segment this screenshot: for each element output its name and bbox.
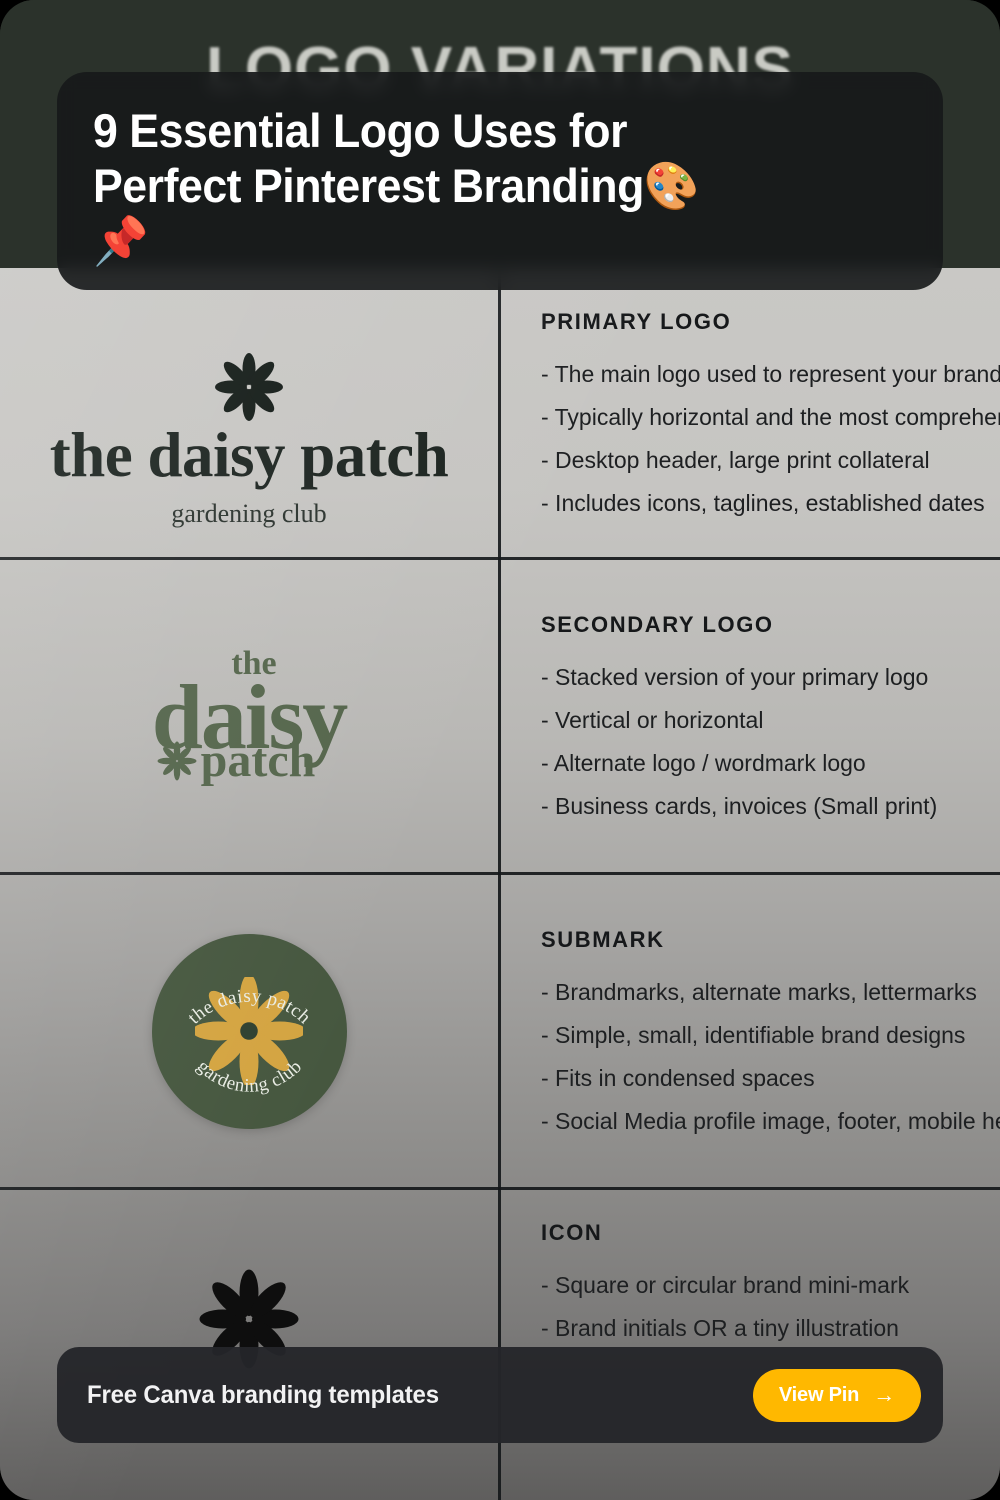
- bullet-item: - Fits in condensed spaces: [541, 1065, 1000, 1092]
- headline-line-1: 9 Essential Logo Uses for: [93, 104, 627, 157]
- cta-description: Free Canva branding templates: [87, 1381, 439, 1410]
- daisy-flower-icon: [157, 741, 197, 781]
- section-title-submark: SUBMARK: [541, 927, 1000, 953]
- bullet-item: - Typically horizontal and the most comp…: [541, 404, 1000, 431]
- daisy-flower-icon: [212, 352, 286, 422]
- bullet-item: - Stacked version of your primary logo: [541, 664, 1000, 691]
- primary-logo-wordmark: the daisy patch: [14, 424, 484, 487]
- submark-description: SUBMARK - Brandmarks, alternate marks, l…: [501, 875, 1000, 1187]
- bullet-item: - Includes icons, taglines, established …: [541, 490, 1000, 517]
- view-pin-button[interactable]: View Pin →: [753, 1369, 921, 1422]
- bullet-item: - Square or circular brand mini-mark: [541, 1272, 1000, 1299]
- bullet-item: - Business cards, invoices (Small print): [541, 793, 1000, 820]
- arrow-right-icon: →: [873, 1384, 895, 1406]
- secondary-logo-patch: patch: [201, 739, 316, 782]
- submark-bottom-text: gardening club: [192, 1056, 306, 1097]
- view-pin-label: View Pin: [779, 1384, 859, 1407]
- bullet-item: - Desktop header, large print collateral: [541, 447, 1000, 474]
- bullet-item: - Alternate logo / wordmark logo: [541, 750, 1000, 777]
- section-title-primary-logo: PRIMARY LOGO: [541, 309, 1000, 335]
- submark-logo: the daisy patch gardening club: [152, 934, 347, 1129]
- headline-line-2: Perfect Pinterest Branding: [93, 159, 644, 212]
- grid-row-icon: ICON - Square or circular brand mini-mar…: [0, 1190, 1000, 1500]
- bullet-item: - Simple, small, identifiable brand desi…: [541, 1022, 1000, 1049]
- secondary-logo: the daisy: [84, 649, 414, 782]
- bullet-item: - Vertical or horizontal: [541, 707, 1000, 734]
- bullet-item: - Brandmarks, alternate marks, lettermar…: [541, 979, 1000, 1006]
- bullet-item: - Brand initials OR a tiny illustration: [541, 1315, 1000, 1342]
- section-title-secondary-logo: SECONDARY LOGO: [541, 612, 1000, 638]
- pin-title-overlay: 9 Essential Logo Uses for Perfect Pinter…: [57, 72, 943, 290]
- icon-description: ICON - Square or circular brand mini-mar…: [501, 1190, 1000, 1500]
- arc-text-growing-together: growing together: [139, 296, 359, 356]
- primary-logo-description: PRIMARY LOGO - The main logo used to rep…: [501, 268, 1000, 557]
- svg-text:gardening club: gardening club: [192, 1056, 306, 1097]
- artist-palette-icon: 🎨: [644, 159, 699, 214]
- pin-screenshot: LOGO VARIATIONS growing together: [0, 0, 1000, 1500]
- icon-logo-cell: [0, 1190, 498, 1500]
- submark-arc-text: the daisy patch gardening club: [152, 934, 347, 1129]
- bullet-item: - The main logo used to represent your b…: [541, 361, 1000, 388]
- pin-title-text: 9 Essential Logo Uses for Perfect Pinter…: [93, 104, 863, 270]
- primary-logo-cell: growing together: [0, 268, 498, 557]
- grid-row-secondary-logo: the daisy: [0, 560, 1000, 872]
- submark-logo-cell: the daisy patch gardening club: [0, 875, 498, 1187]
- pin-cta-bar[interactable]: Free Canva branding templates View Pin →: [57, 1347, 943, 1443]
- bullet-item: - Social Media profile image, footer, mo…: [541, 1108, 1000, 1135]
- grid-row-primary-logo: growing together: [0, 268, 1000, 557]
- submark-top-text: the daisy patch: [183, 985, 314, 1028]
- primary-logo-tagline: gardening club: [14, 499, 484, 529]
- primary-logo: growing together: [14, 296, 484, 529]
- pushpin-icon: 📌: [93, 214, 148, 269]
- secondary-logo-cell: the daisy: [0, 560, 498, 872]
- secondary-logo-description: SECONDARY LOGO - Stacked version of your…: [501, 560, 1000, 872]
- grid-row-submark: the daisy patch gardening club: [0, 875, 1000, 1187]
- logo-variations-grid: growing together: [0, 268, 1000, 1500]
- svg-text:the daisy patch: the daisy patch: [183, 985, 314, 1028]
- section-title-icon: ICON: [541, 1220, 1000, 1246]
